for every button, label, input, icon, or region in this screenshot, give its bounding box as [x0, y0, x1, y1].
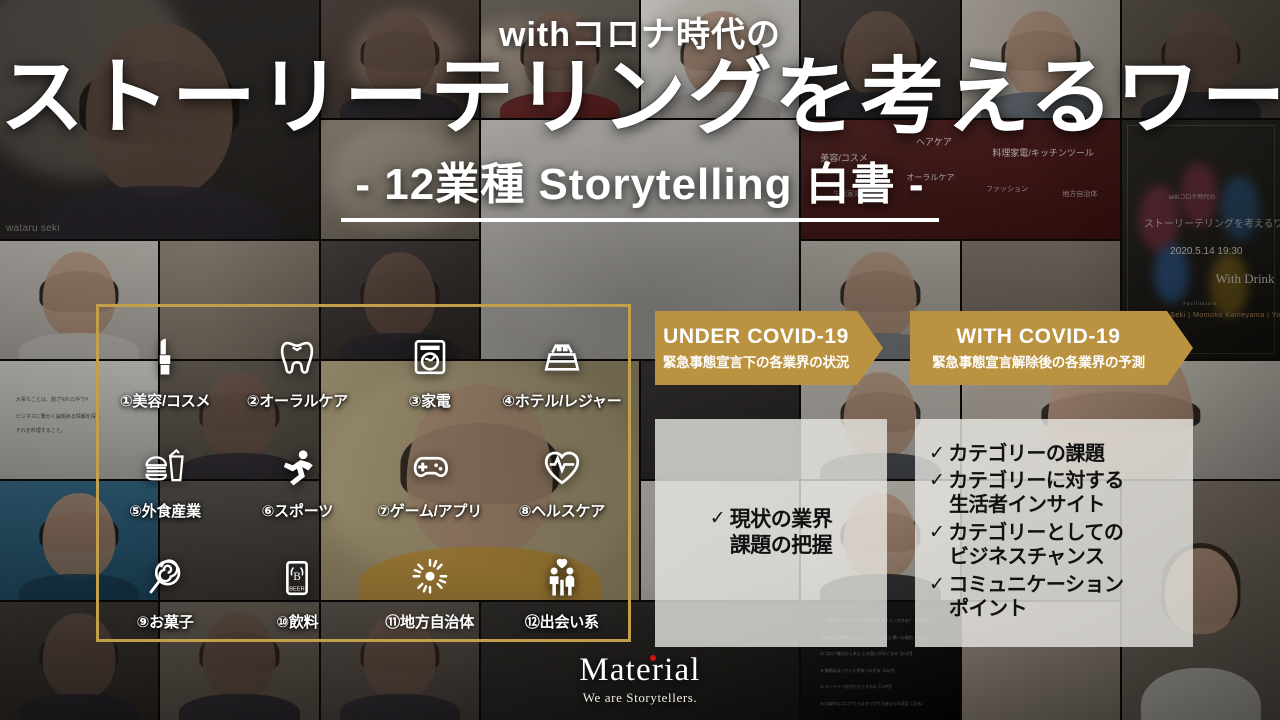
lollipop-icon — [144, 557, 186, 599]
industry-cell-oralcare[interactable]: ②オーラルケア — [231, 307, 363, 418]
industry-label: ⑫出会い系 — [525, 611, 599, 632]
banner-under-covid[interactable]: UNDER COVID-19 緊急事態宣言下の各業界の状況 — [655, 311, 883, 385]
industry-label: ②オーラルケア — [247, 390, 348, 411]
takeaway-line1: カテゴリーとしての — [948, 521, 1123, 545]
takeaway-line2: ビジネスチャンス — [949, 545, 1193, 569]
industry-cell-municipality[interactable]: ⑪地方自治体 — [364, 528, 496, 639]
industry-label: ⑪地方自治体 — [385, 611, 474, 632]
industry-label: ⑦ゲーム/アプリ — [377, 500, 482, 521]
takeaway-line2: ポイント — [949, 597, 1193, 621]
industry-label: ⑤外食産業 — [129, 500, 201, 521]
sunburst-icon — [409, 557, 451, 599]
industry-cell-foodservice[interactable]: ⑤外食産業 — [99, 418, 231, 529]
logo-tagline: We are Storytellers. — [0, 690, 1280, 706]
takeaway-line2: 生活者インサイト — [949, 493, 1193, 517]
panel-current-issues: ✓ 現状の業界 課題の把握 — [655, 419, 887, 647]
couple-heart-icon — [541, 557, 583, 599]
panel-takeaways: ✓カテゴリーの課題 ✓カテゴリーに対する 生活者インサイト ✓カテゴリーとしての… — [915, 419, 1193, 647]
svg-text:B: B — [294, 571, 302, 583]
industry-label: ⑥スポーツ — [262, 500, 333, 521]
slide-canvas: wataru seki — [0, 0, 1280, 720]
check-icon: ✓ — [929, 469, 944, 492]
takeaway-item: ✓カテゴリーに対する 生活者インサイト — [929, 469, 1193, 518]
bg-slide-drink: With Drink — [1216, 271, 1275, 287]
industry-cell-beverage[interactable]: B BEER ⑩飲料 — [231, 528, 363, 639]
industry-cell-appliance[interactable]: ③家電 — [364, 307, 496, 418]
bed-icon — [541, 336, 583, 378]
takeaway-item: ✓カテゴリーの課題 — [929, 442, 1193, 466]
industry-label: ④ホテル/レジャー — [502, 390, 621, 411]
takeaway-line1: カテゴリーの課題 — [948, 442, 1104, 466]
headline-block: withコロナ時代の ストーリーテリングを考えるワークショップ - 12業種 S… — [0, 18, 1280, 222]
lipstick-icon — [144, 336, 186, 378]
takeaway-item: ✓コミュニケーション ポイント — [929, 573, 1193, 622]
heart-pulse-icon — [541, 446, 583, 488]
brand-logo: Material We are Storytellers. — [0, 652, 1280, 706]
industry-label: ⑧ヘルスケア — [519, 500, 606, 521]
tooth-icon — [276, 336, 318, 378]
svg-text:BEER: BEER — [290, 586, 305, 592]
logo-text: Material — [579, 652, 700, 688]
check-icon: ✓ — [710, 507, 726, 530]
gamepad-icon — [409, 446, 451, 488]
banner-with-covid[interactable]: WITH COVID-19 緊急事態宣言解除後の各業界の予測 — [910, 311, 1193, 385]
takeaway-line1: コミュニケーション — [948, 573, 1123, 597]
participant-name: wataru seki — [6, 223, 60, 234]
logo-wordmark: Material — [579, 652, 700, 689]
takeaway-item: ✓カテゴリーとしての ビジネスチャンス — [929, 521, 1193, 570]
burger-drink-icon — [144, 446, 186, 488]
industry-cell-healthcare[interactable]: ⑧ヘルスケア — [496, 418, 628, 529]
industry-cell-game[interactable]: ⑦ゲーム/アプリ — [364, 418, 496, 529]
industry-icon-grid: ①美容/コスメ ②オーラルケア ③家電 — [96, 304, 631, 642]
banner-title: UNDER COVID-19 — [663, 325, 849, 348]
industry-label: ③家電 — [409, 390, 451, 411]
subtitle-underline: - 12業種 Storytelling 白書 - — [341, 148, 938, 222]
banner-subtitle: 緊急事態宣言下の各業界の状況 — [663, 351, 849, 371]
beer-can-icon: B BEER — [276, 557, 318, 599]
headline-kicker: withコロナ時代の — [0, 18, 1280, 52]
banner-subtitle: 緊急事態宣言解除後の各業界の予測 — [932, 351, 1145, 371]
panel-line: 課題の把握 — [730, 533, 833, 559]
check-icon: ✓ — [929, 442, 944, 465]
industry-label: ⑩飲料 — [276, 611, 318, 632]
industry-label: ⑨お菓子 — [137, 611, 194, 632]
page-subtitle: - 12業種 Storytelling 白書 - — [355, 148, 924, 212]
industry-cell-beauty[interactable]: ①美容/コスメ — [99, 307, 231, 418]
industry-cell-sports[interactable]: ⑥スポーツ — [231, 418, 363, 529]
panel-line: 現状の業界 — [730, 507, 833, 533]
banner-title: WITH COVID-19 — [956, 325, 1120, 348]
bg-slide-datetime: 2020.5.14 19:30 — [1170, 246, 1242, 257]
industry-label: ①美容/コスメ — [120, 390, 210, 411]
washing-machine-icon — [409, 336, 451, 378]
check-icon: ✓ — [929, 521, 944, 544]
runner-icon — [276, 446, 318, 488]
takeaway-line1: カテゴリーに対する — [948, 469, 1124, 493]
bg-slide-facilitators-label: Facilitators — [1183, 301, 1217, 306]
industry-cell-confectionery[interactable]: ⑨お菓子 — [99, 528, 231, 639]
check-icon: ✓ — [929, 573, 944, 596]
page-title: ストーリーテリングを考えるワークショップ — [0, 56, 1280, 138]
industry-cell-dating[interactable]: ⑫出会い系 — [496, 528, 628, 639]
industry-cell-hotel[interactable]: ④ホテル/レジャー — [496, 307, 628, 418]
